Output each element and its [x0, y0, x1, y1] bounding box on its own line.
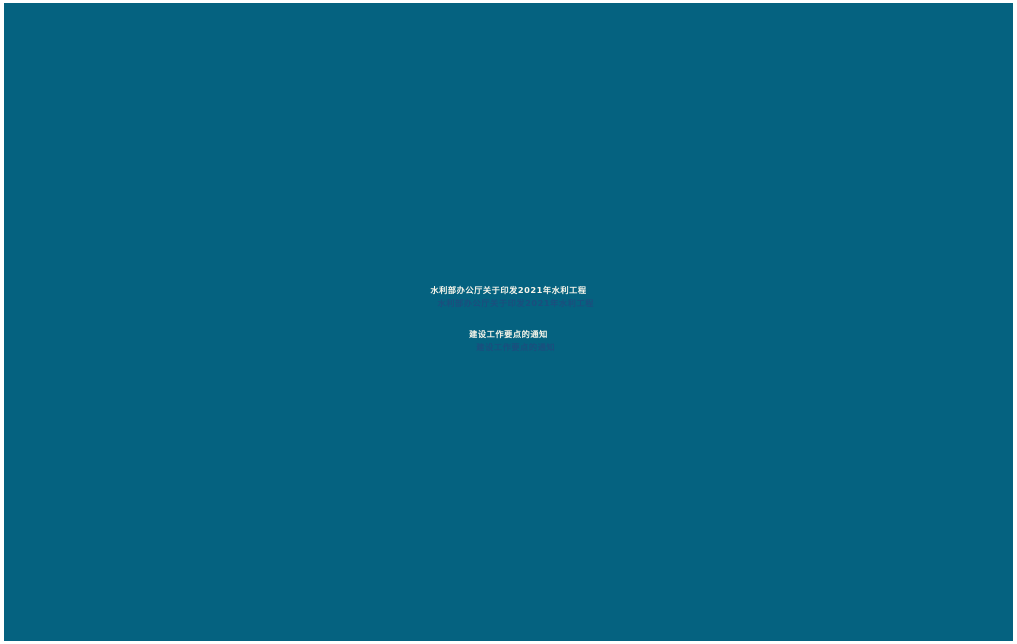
title-card-canvas: 水利部办公厅关于印发2021年水利工程 建设工作要点的通知	[0, 0, 1017, 644]
title-block: 水利部办公厅关于印发2021年水利工程 建设工作要点的通知	[4, 287, 1013, 339]
title-line-2: 建设工作要点的通知	[4, 331, 1013, 339]
title-card-panel: 水利部办公厅关于印发2021年水利工程 建设工作要点的通知	[4, 3, 1013, 641]
frame-edge-right	[1013, 0, 1017, 644]
title-line-1: 水利部办公厅关于印发2021年水利工程	[4, 287, 1013, 295]
